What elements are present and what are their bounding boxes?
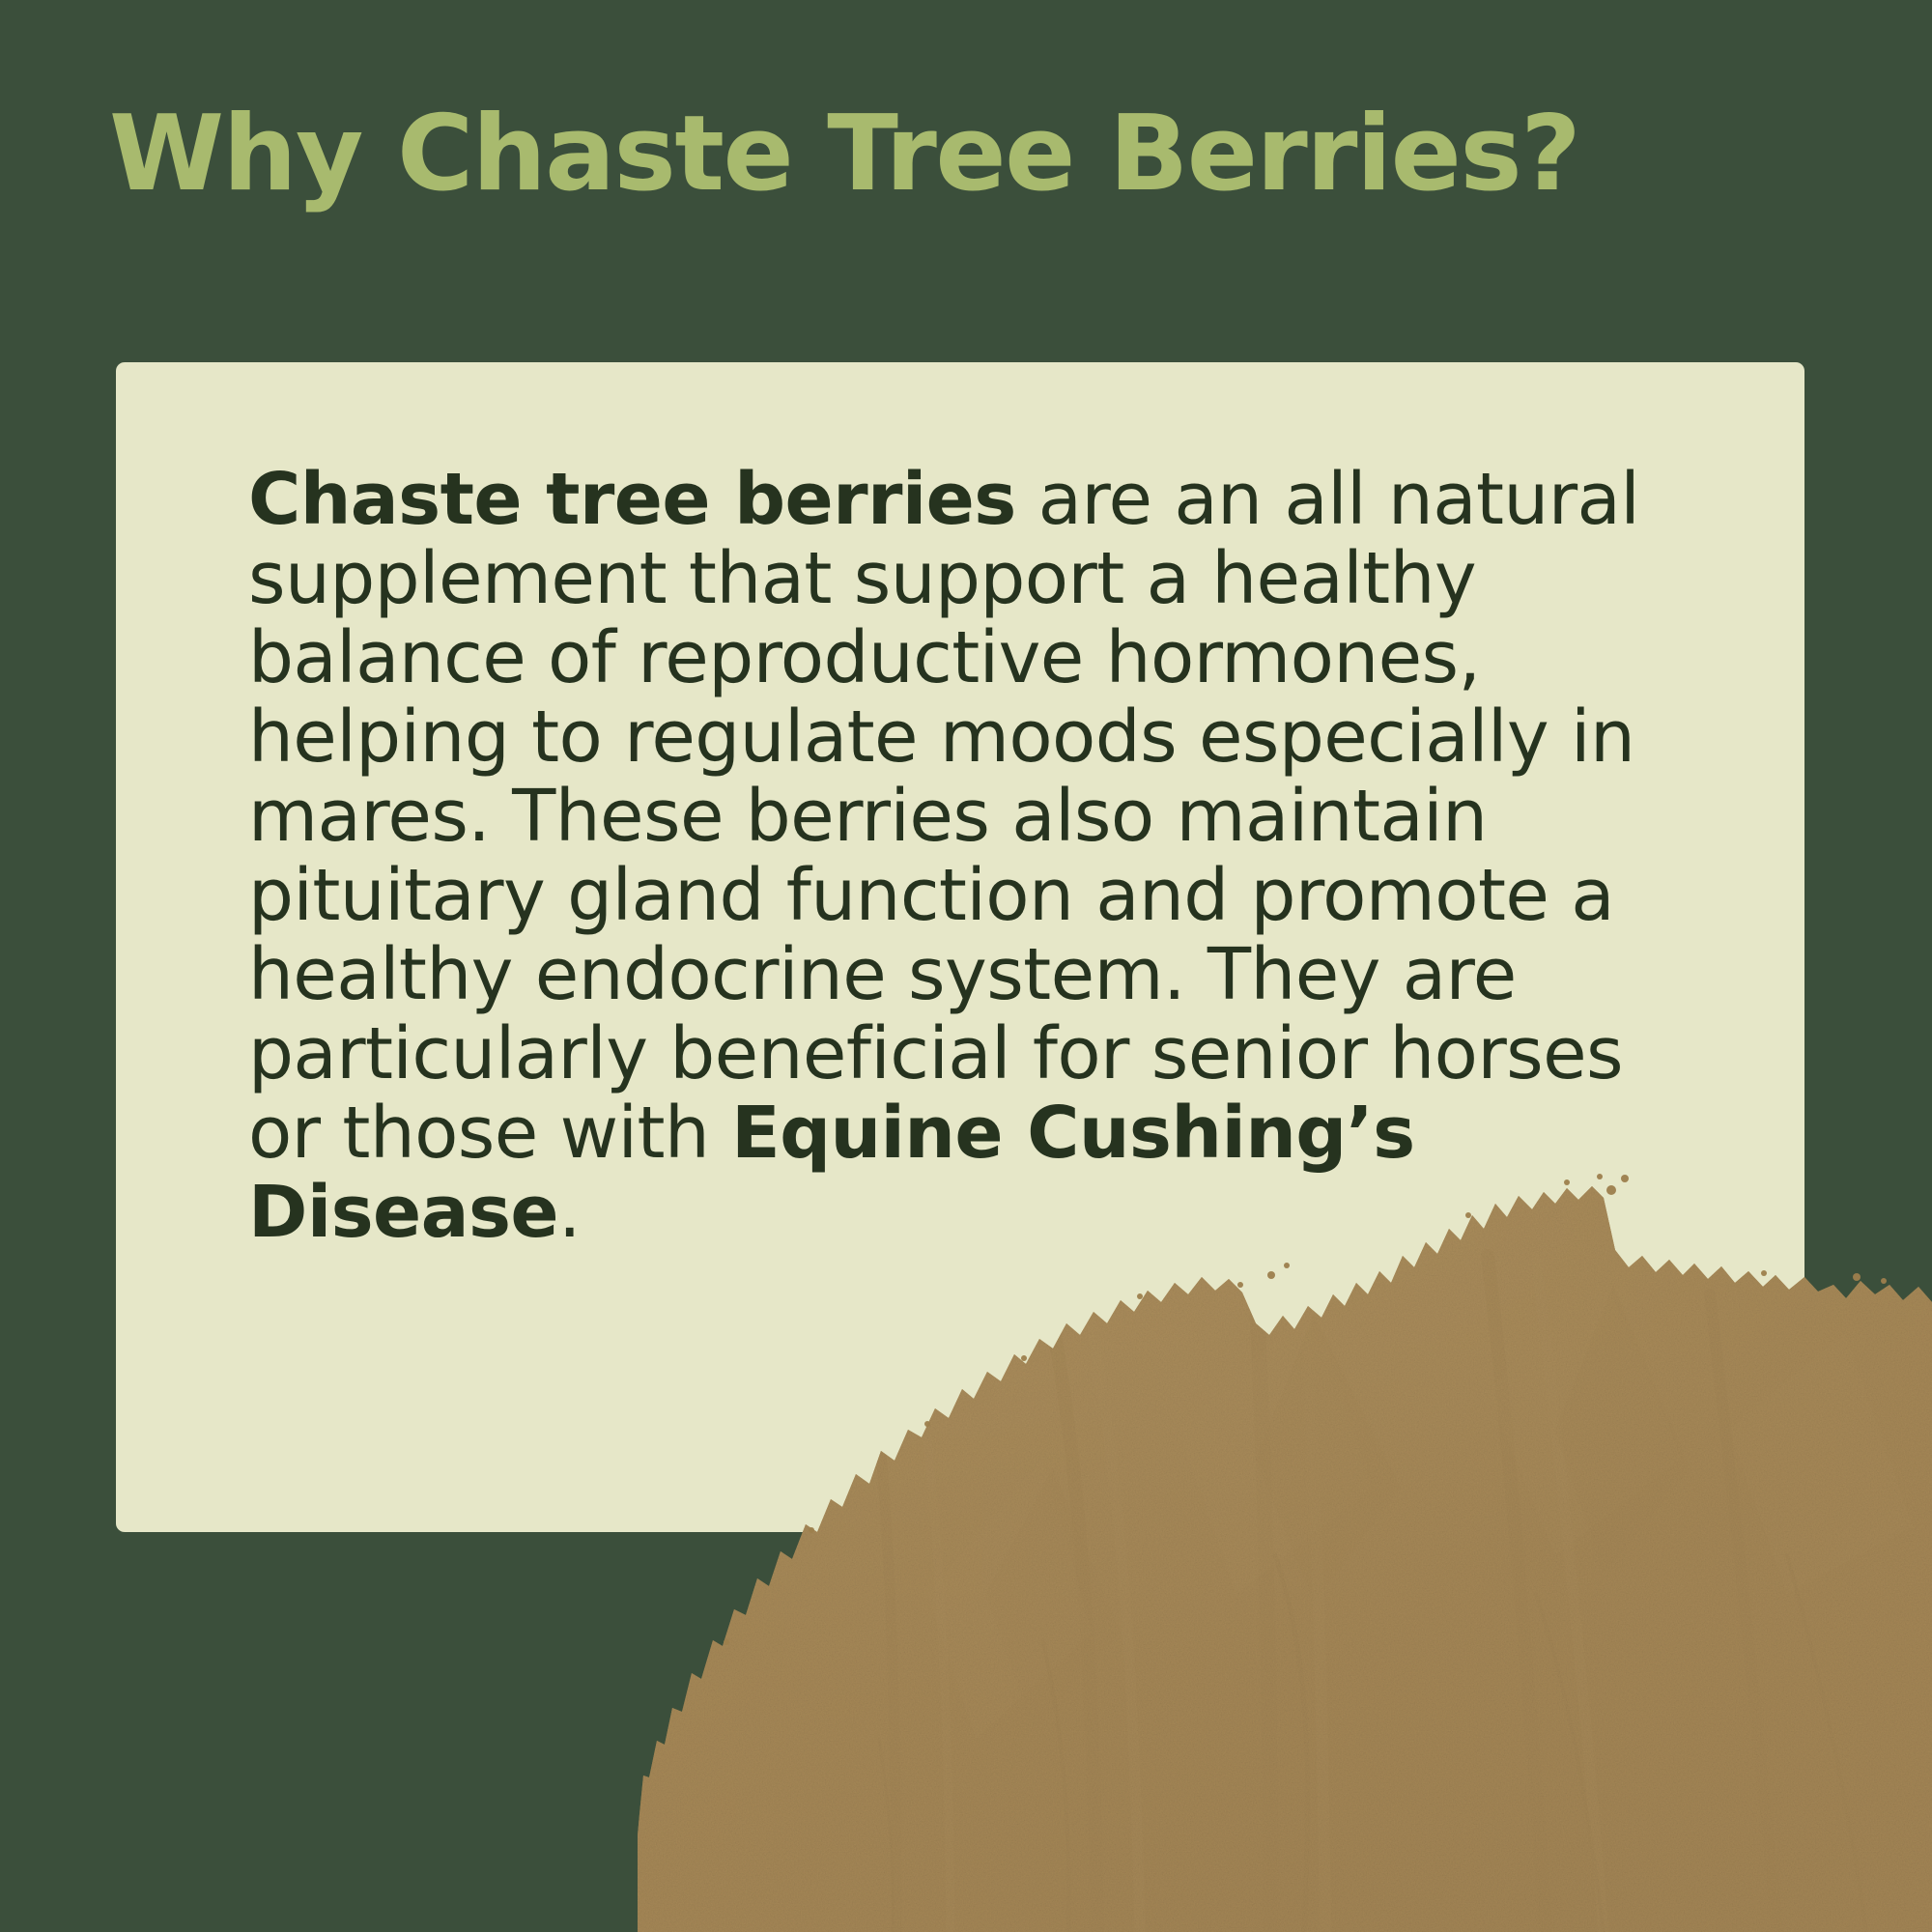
card-body-paragraph: Chaste tree berries are an all natural s… — [248, 460, 1688, 1252]
page-title: Why Chaste Tree Berries? — [109, 101, 1829, 208]
body-segment-2: . — [558, 1171, 581, 1254]
poster-canvas: Why Chaste Tree Berries? Chaste tree ber… — [0, 0, 1932, 1932]
info-card: Chaste tree berries are an all natural s… — [116, 362, 1804, 1532]
lead-emphasis: Chaste tree berries — [248, 458, 1016, 541]
body-segment-1: are an all natural supplement that suppo… — [248, 458, 1639, 1175]
